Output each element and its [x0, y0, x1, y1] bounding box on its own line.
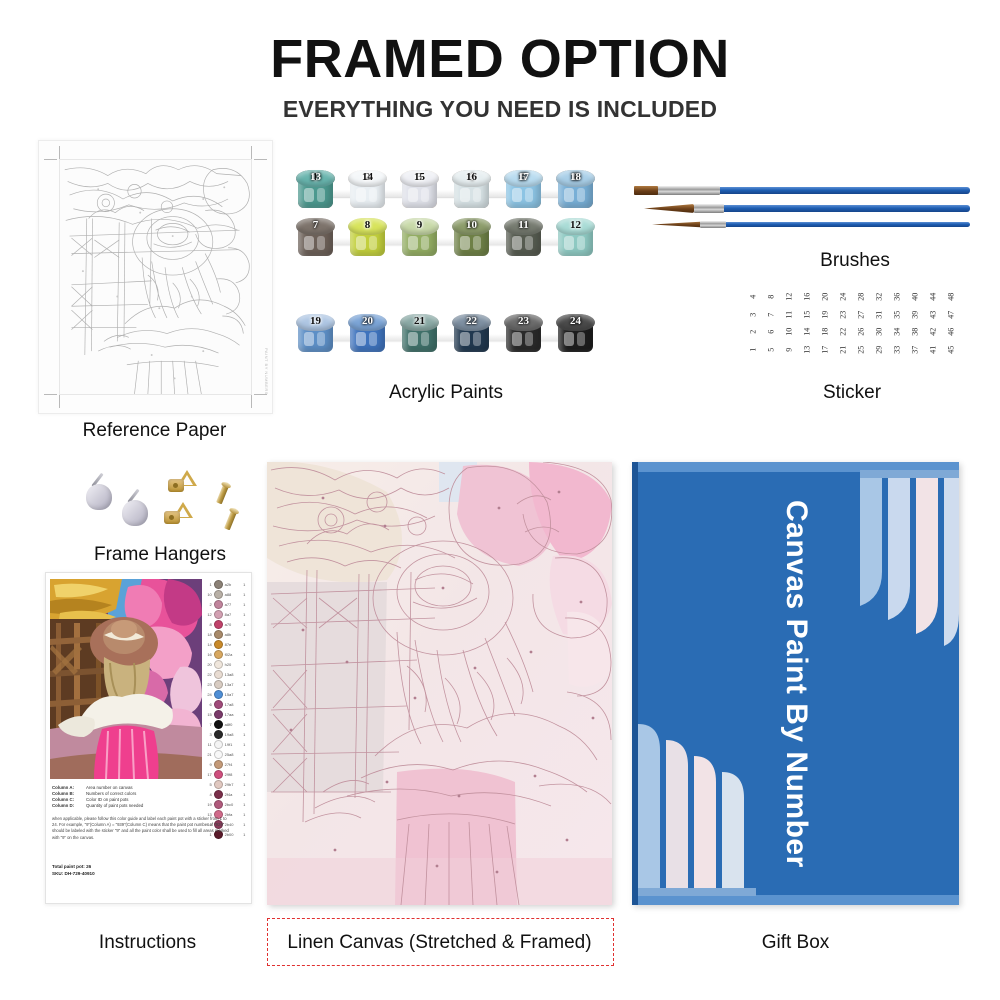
- legend-quantity: 1: [243, 712, 248, 717]
- legend-area-number: 22: [204, 672, 212, 677]
- pot-gloss: [473, 332, 481, 346]
- brush-detail: [652, 222, 970, 227]
- legend-color-swatch: [214, 740, 223, 749]
- sticker-number: 44: [924, 288, 942, 306]
- legend-color-swatch: [214, 630, 223, 639]
- legend-color-swatch: [214, 620, 223, 629]
- pot-rod: [302, 334, 590, 341]
- sticker-number: 23: [834, 305, 852, 323]
- pot-rod: [302, 238, 590, 245]
- pot-number: 19: [296, 315, 335, 327]
- sticker-number: 10: [780, 323, 798, 341]
- paint-pot-15: 15: [400, 170, 439, 210]
- legend-color-code: 13a8: [225, 672, 242, 677]
- legend-row: 10a881: [204, 589, 248, 599]
- sticker-number: 11: [780, 305, 798, 323]
- legend-row: 2415a71: [204, 689, 248, 699]
- legend-row: 1517aa1: [204, 709, 248, 719]
- pot-number: 13: [296, 171, 335, 183]
- sticker-number: 39: [906, 305, 924, 323]
- legend-color-code: f02a: [225, 652, 242, 657]
- legend-quantity: 1: [243, 792, 248, 797]
- sticker-number: 48: [942, 288, 960, 306]
- sticker-number: 19: [816, 305, 834, 323]
- sticker-number: 35: [888, 305, 906, 323]
- sticker-number: 28: [852, 288, 870, 306]
- pot-gloss: [356, 236, 366, 250]
- legend-area-number: 1: [204, 582, 212, 587]
- pot-gloss: [473, 236, 481, 250]
- pot-gloss: [317, 188, 325, 202]
- brush-handle: [720, 222, 970, 227]
- gift-box-label: Gift Box: [632, 932, 959, 954]
- legend-color-code: 2f4a: [225, 792, 242, 797]
- sticker-number: 43: [924, 305, 942, 323]
- sticker-number: 29: [870, 340, 888, 358]
- paint-pot-9: 9: [400, 218, 439, 258]
- paint-pot-8: 8: [348, 218, 387, 258]
- legend-area-number: 23: [204, 682, 212, 687]
- legend-color-swatch: [214, 650, 223, 659]
- sticker-number: 16: [798, 288, 816, 306]
- legend-row: 8a701: [204, 619, 248, 629]
- sticker-number: 8: [762, 288, 780, 306]
- brush-handle: [718, 187, 970, 194]
- legend-quantity: 1: [243, 742, 248, 747]
- pot-gloss: [421, 188, 429, 202]
- instructions-body-text: when applicable, please follow this colo…: [52, 816, 230, 841]
- sticker-number: 18: [816, 323, 834, 341]
- legend-color-code: 29f8: [225, 772, 242, 777]
- sticker-number: 30: [870, 323, 888, 341]
- pot-number: 10: [452, 219, 491, 231]
- legend-quantity: 1: [243, 802, 248, 807]
- crop-mark: [254, 159, 267, 160]
- legend-color-swatch: [214, 590, 223, 599]
- pot-number: 8: [348, 219, 387, 231]
- legend-color-code: a70: [225, 622, 242, 627]
- sticker-number: 12: [780, 288, 798, 306]
- pot-number: 7: [296, 219, 335, 231]
- legend-color-swatch: [214, 660, 223, 669]
- paint-pot-14: 14: [348, 170, 387, 210]
- legend-color-swatch: [214, 770, 223, 779]
- legend-color-code: 13a7: [225, 682, 242, 687]
- pot-gloss: [369, 236, 377, 250]
- gift-box-text-block: Canvas Paint By Number: [632, 462, 959, 905]
- d-ring-plate: [164, 511, 180, 524]
- pot-gloss: [512, 188, 522, 202]
- legend-color-swatch: [214, 700, 223, 709]
- legend-color-swatch: [214, 760, 223, 769]
- legend-row: 2a771: [204, 599, 248, 609]
- pot-number: 14: [348, 171, 387, 183]
- sticker-number: 36: [888, 288, 906, 306]
- legend-color-swatch: [214, 610, 223, 619]
- sticker-number: 42: [924, 323, 942, 341]
- legend-color-code: 8a7: [225, 612, 242, 617]
- sticker-number: 3: [744, 305, 762, 323]
- legend-quantity: 1: [243, 682, 248, 687]
- pot-number: 21: [400, 315, 439, 327]
- legend-quantity: 1: [243, 812, 248, 817]
- instructions-column-key: Column A:Area number on canvasColumn B:N…: [52, 785, 227, 809]
- reference-paper-item: PAINT BY NUMBERS: [38, 140, 273, 414]
- sticker-number: 20: [816, 288, 834, 306]
- pot-number: 24: [556, 315, 595, 327]
- legend-color-code: a8f0: [225, 722, 242, 727]
- legend-color-swatch: [214, 720, 223, 729]
- sticker-number: 26: [852, 323, 870, 341]
- legend-color-code: 19a8: [225, 732, 242, 737]
- legend-color-swatch: [214, 710, 223, 719]
- pot-rod: [302, 190, 590, 197]
- sticker-number: 31: [870, 305, 888, 323]
- frame-hangers-label: Frame Hangers: [40, 544, 280, 566]
- pot-gloss: [317, 332, 325, 346]
- paint-pot-19: 19: [296, 314, 335, 354]
- legend-area-number: 2: [204, 602, 212, 607]
- pot-number: 16: [452, 171, 491, 183]
- brush-tip: [652, 221, 700, 228]
- legend-color-code: a8b: [225, 632, 242, 637]
- legend-area-number: 8: [204, 622, 212, 627]
- paint-pot-20: 20: [348, 314, 387, 354]
- legend-quantity: 1: [243, 692, 248, 697]
- frame-hangers-item: [60, 468, 260, 546]
- sticker-number: 5: [762, 340, 780, 358]
- legend-color-code: 25a8: [225, 752, 242, 757]
- sticker-label: Sticker: [744, 382, 960, 404]
- legend-area-number: 17: [204, 772, 212, 777]
- sticker-number: 1: [744, 340, 762, 358]
- pot-gloss: [369, 332, 377, 346]
- canvas-outline-art-svg: [267, 462, 612, 905]
- crop-mark: [251, 395, 252, 408]
- legend-row: 18a8b1: [204, 629, 248, 639]
- legend-row: 319a81: [204, 729, 248, 739]
- pot-gloss: [408, 188, 418, 202]
- pot-number: 11: [504, 219, 543, 231]
- legend-area-number: 6: [204, 702, 212, 707]
- legend-area-number: 9: [204, 762, 212, 767]
- plastic-hanger: [122, 500, 148, 526]
- legend-color-code: 15a7: [225, 692, 242, 697]
- page-subtitle: EVERYTHING YOU NEED IS INCLUDED: [0, 96, 1000, 123]
- pot-number: 22: [452, 315, 491, 327]
- page-title: FRAMED OPTION: [0, 32, 1000, 86]
- legend-quantity: 1: [243, 662, 248, 667]
- legend-area-number: 15: [204, 712, 212, 717]
- crop-mark: [251, 146, 252, 159]
- legend-row: 7a8f01: [204, 719, 248, 729]
- pot-gloss: [408, 332, 418, 346]
- legend-area-number: 24: [204, 692, 212, 697]
- reference-paper-label: Reference Paper: [38, 420, 271, 442]
- paint-pot-12: 12: [556, 218, 595, 258]
- legend-quantity: 1: [243, 652, 248, 657]
- sticker-number: 37: [906, 340, 924, 358]
- pot-gloss: [525, 188, 533, 202]
- sku-text: SKU: DH-729-40910: [52, 870, 230, 877]
- legend-color-code: 87e: [225, 642, 242, 647]
- screw: [224, 508, 238, 531]
- sticker-number: 34: [888, 323, 906, 341]
- column-desc: Quantity of paint pots needed: [86, 803, 143, 809]
- legend-color-swatch: [214, 640, 223, 649]
- legend-quantity: 1: [243, 632, 248, 637]
- legend-row: 1729f81: [204, 769, 248, 779]
- sticker-number: 14: [798, 323, 816, 341]
- legend-row: 1a2b1: [204, 579, 248, 589]
- legend-area-number: 18: [204, 632, 212, 637]
- brush-ferrule: [694, 204, 724, 213]
- linen-canvas-label: Linen Canvas (Stretched & Framed): [267, 932, 612, 954]
- pot-gloss: [564, 188, 574, 202]
- pot-number: 20: [348, 315, 387, 327]
- pot-gloss: [512, 236, 522, 250]
- legend-quantity: 1: [243, 762, 248, 767]
- pot-gloss: [421, 236, 429, 250]
- sticker-number: 9: [780, 340, 798, 358]
- d-ring-hanger: [164, 502, 192, 528]
- paint-pot-18: 18: [556, 170, 595, 210]
- pot-gloss: [304, 236, 314, 250]
- sticker-number: 4: [744, 288, 762, 306]
- sticker-number: 45: [942, 340, 960, 358]
- acrylic-paints-label: Acrylic Paints: [296, 382, 596, 404]
- instructions-column-row: Column D:Quantity of paint pots needed: [52, 803, 227, 809]
- legend-quantity: 1: [243, 702, 248, 707]
- legend-row: 617a81: [204, 699, 248, 709]
- pot-gloss: [577, 236, 585, 250]
- sticker-number: 21: [834, 340, 852, 358]
- linen-canvas-item: [267, 462, 612, 905]
- total-paint-pot: Total paint pot: 26: [52, 863, 230, 870]
- d-ring-plate: [168, 479, 184, 492]
- sticker-item: 4812162024283236404448371115192327313539…: [744, 288, 960, 358]
- brush-flat: [634, 187, 970, 194]
- sticker-number: 38: [906, 323, 924, 341]
- legend-color-code: a77: [225, 602, 242, 607]
- pot-gloss: [525, 332, 533, 346]
- pot-gloss: [473, 188, 481, 202]
- pot-gloss: [304, 332, 314, 346]
- sticker-number: 41: [924, 340, 942, 358]
- pot-gloss: [460, 332, 470, 346]
- legend-color-code: 2bc0: [225, 802, 242, 807]
- legend-color-code: 17aa: [225, 712, 242, 717]
- crop-mark: [59, 146, 60, 159]
- pot-gloss: [408, 236, 418, 250]
- paint-pot-row: 131415161718: [296, 168, 596, 212]
- legend-row: 1487e1: [204, 639, 248, 649]
- legend-quantity: 1: [243, 822, 248, 827]
- legend-area-number: 3: [204, 732, 212, 737]
- legend-color-swatch: [214, 680, 223, 689]
- pot-number: 9: [400, 219, 439, 231]
- legend-row: 16f02a1: [204, 649, 248, 659]
- legend-row: 927f41: [204, 759, 248, 769]
- pot-gloss: [460, 236, 470, 250]
- crop-mark: [59, 395, 60, 408]
- legend-row: 2313a71: [204, 679, 248, 689]
- paint-pot-11: 11: [504, 218, 543, 258]
- legend-color-code: 29b7: [225, 782, 242, 787]
- legend-area-number: 7: [204, 722, 212, 727]
- sticker-number: 27: [852, 305, 870, 323]
- legend-quantity: 1: [243, 622, 248, 627]
- legend-row: 1119f11: [204, 739, 248, 749]
- sticker-number: 17: [816, 340, 834, 358]
- sticker-number: 46: [942, 323, 960, 341]
- column-key: Column D:: [52, 803, 86, 809]
- brush-ferrule: [656, 186, 720, 195]
- legend-quantity: 1: [243, 722, 248, 727]
- paint-pot-17: 17: [504, 170, 543, 210]
- pot-gloss: [460, 188, 470, 202]
- pot-gloss: [577, 332, 585, 346]
- brush-ferrule: [700, 221, 726, 228]
- legend-area-number: 20: [204, 662, 212, 667]
- legend-quantity: 1: [243, 672, 248, 677]
- d-ring-hanger: [168, 470, 196, 496]
- legend-color-swatch: [214, 750, 223, 759]
- legend-quantity: 1: [243, 612, 248, 617]
- paint-pot-row: 192021222324: [296, 312, 596, 356]
- legend-quantity: 1: [243, 782, 248, 787]
- legend-quantity: 1: [243, 592, 248, 597]
- legend-row: 2125a81: [204, 749, 248, 759]
- outline-drawing-svg: [60, 160, 251, 394]
- legend-color-code: a2b: [225, 582, 242, 587]
- pot-gloss: [317, 236, 325, 250]
- crop-mark: [44, 159, 57, 160]
- legend-color-code: 17a8: [225, 702, 242, 707]
- sticker-number: 32: [870, 288, 888, 306]
- paint-pot-16: 16: [452, 170, 491, 210]
- pot-number: 12: [556, 219, 595, 231]
- instructions-footer: Total paint pot: 26 SKU: DH-729-40910: [52, 863, 230, 877]
- legend-area-number: 21: [204, 752, 212, 757]
- sticker-number-grid: 4812162024283236404448371115192327313539…: [744, 288, 960, 358]
- sticker-number: 47: [942, 305, 960, 323]
- pot-gloss: [304, 188, 314, 202]
- legend-quantity: 1: [243, 642, 248, 647]
- legend-quantity: 1: [243, 832, 248, 837]
- pot-number: 18: [556, 171, 595, 183]
- preview-art-svg: [50, 579, 202, 779]
- pot-gloss: [369, 188, 377, 202]
- paint-pot-22: 22: [452, 314, 491, 354]
- paint-pot-10: 10: [452, 218, 491, 258]
- legend-color-code: 19f1: [225, 742, 242, 747]
- sticker-number: 7: [762, 305, 780, 323]
- legend-color-code: 27f4: [225, 762, 242, 767]
- sticker-number: 22: [834, 323, 852, 341]
- paint-pot-13: 13: [296, 170, 335, 210]
- pot-gloss: [577, 188, 585, 202]
- brush-handle: [718, 205, 970, 212]
- gift-box-item: Canvas Paint By Number: [632, 462, 959, 905]
- legend-quantity: 1: [243, 732, 248, 737]
- legend-area-number: 16: [204, 652, 212, 657]
- paint-pot-23: 23: [504, 314, 543, 354]
- sticker-number: 40: [906, 288, 924, 306]
- pot-number: 17: [504, 171, 543, 183]
- instructions-label: Instructions: [45, 932, 250, 954]
- brush-tip: [644, 204, 694, 213]
- plastic-hanger: [86, 484, 112, 510]
- legend-area-number: 10: [204, 592, 212, 597]
- pot-gloss: [564, 332, 574, 346]
- legend-color-swatch: [214, 730, 223, 739]
- legend-area-number: 14: [204, 642, 212, 647]
- legend-color-swatch: [214, 600, 223, 609]
- legend-color-swatch: [214, 580, 223, 589]
- crop-mark: [44, 394, 57, 395]
- acrylic-paints-item: 123456 789101112 131415161718 1920212223…: [296, 168, 596, 358]
- legend-quantity: 1: [243, 772, 248, 777]
- pot-gloss: [512, 332, 522, 346]
- paint-pot-7: 7: [296, 218, 335, 258]
- sticker-number: 24: [834, 288, 852, 306]
- legend-quantity: 1: [243, 582, 248, 587]
- instructions-preview-image: [50, 579, 202, 779]
- sticker-number: 25: [852, 340, 870, 358]
- legend-row: 128a71: [204, 609, 248, 619]
- legend-row: 2213a81: [204, 669, 248, 679]
- instructions-item: 1a2b110a8812a771128a718a70118a8b11487e11…: [45, 572, 252, 904]
- pot-gloss: [356, 188, 366, 202]
- legend-color-code: h20: [225, 662, 242, 667]
- brushes-label: Brushes: [760, 250, 950, 272]
- legend-area-number: 12: [204, 612, 212, 617]
- brush-tip: [634, 186, 658, 195]
- pot-number: 23: [504, 315, 543, 327]
- pot-gloss: [356, 332, 366, 346]
- paint-pot-row: 789101112: [296, 216, 596, 260]
- sticker-number: 13: [798, 340, 816, 358]
- screw: [216, 482, 230, 505]
- gift-box-text: Canvas Paint By Number: [778, 500, 813, 868]
- pot-gloss: [525, 236, 533, 250]
- reference-paper-side-text: PAINT BY NUMBERS: [264, 348, 269, 395]
- sticker-number: 6: [762, 323, 780, 341]
- legend-area-number: 11: [204, 742, 212, 747]
- pot-number: 15: [400, 171, 439, 183]
- legend-color-code: a88: [225, 592, 242, 597]
- legend-color-swatch: [214, 670, 223, 679]
- sticker-number: 2: [744, 323, 762, 341]
- legend-color-swatch: [214, 690, 223, 699]
- legend-row: 20h201: [204, 659, 248, 669]
- paint-pot-21: 21: [400, 314, 439, 354]
- sticker-number: 15: [798, 305, 816, 323]
- sticker-number: 33: [888, 340, 906, 358]
- legend-quantity: 1: [243, 752, 248, 757]
- legend-quantity: 1: [243, 602, 248, 607]
- pot-gloss: [564, 236, 574, 250]
- paint-pot-24: 24: [556, 314, 595, 354]
- pot-gloss: [421, 332, 429, 346]
- brush-round: [644, 205, 970, 212]
- reference-paper-outline-art: [59, 159, 252, 395]
